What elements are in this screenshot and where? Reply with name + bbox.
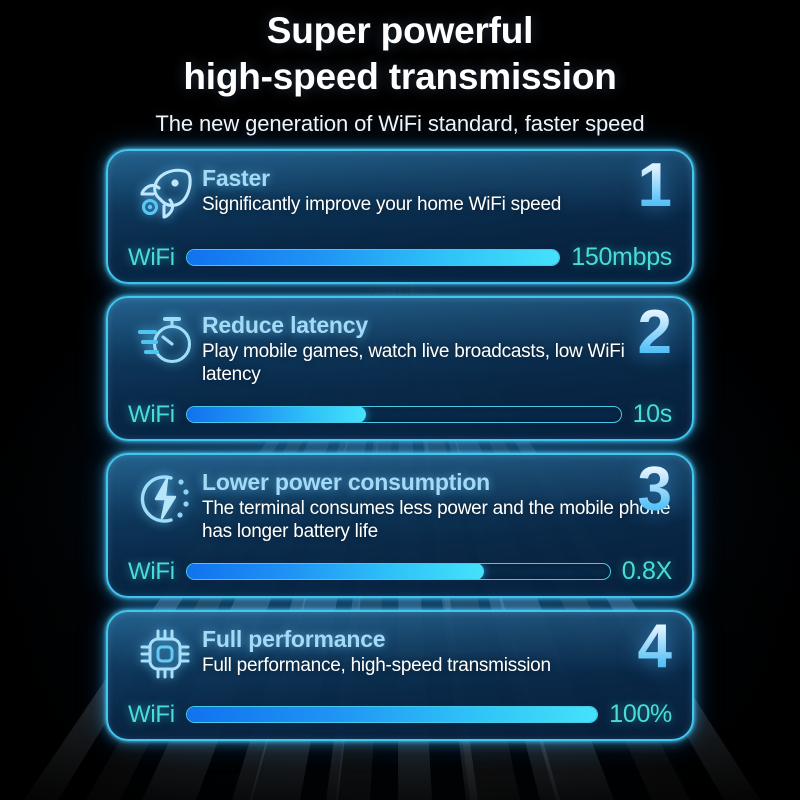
meter-fill: [186, 706, 598, 723]
card-top-row: Lower power consumption The terminal con…: [128, 468, 672, 543]
promo-graphic: Super powerful high-speed transmission T…: [0, 0, 800, 800]
cpu-chip-icon: [128, 625, 202, 681]
header: Super powerful high-speed transmission T…: [0, 0, 800, 139]
headline-line-1: Super powerful: [0, 8, 800, 54]
card-description: Full performance, high-speed transmissio…: [202, 654, 672, 677]
card-number-badge: 1: [630, 155, 672, 217]
subheadline: The new generation of WiFi standard, fas…: [0, 109, 800, 139]
card-title: Faster: [202, 165, 672, 192]
card-top-row: Faster Significantly improve your home W…: [128, 164, 672, 228]
meter-track: [186, 249, 560, 266]
power-bolt-icon: [128, 468, 202, 528]
card-top-row: Reduce latency Play mobile games, watch …: [128, 311, 672, 386]
feature-card: Lower power consumption The terminal con…: [106, 453, 694, 598]
meter-track: [186, 563, 611, 580]
card-title: Reduce latency: [202, 312, 672, 339]
meter-value: 10s: [633, 401, 672, 428]
meter-label: WiFi: [128, 559, 186, 585]
meter-track: [186, 706, 598, 723]
feature-card: Reduce latency Play mobile games, watch …: [106, 296, 694, 441]
meter-track: [186, 406, 622, 423]
card-number-badge: 4: [630, 616, 672, 678]
meter-value: 150mbps: [571, 244, 672, 271]
card-text-column: Full performance Full performance, high-…: [202, 625, 672, 677]
meter-value: 0.8X: [622, 558, 672, 585]
meter-label: WiFi: [128, 402, 186, 428]
progress-meter: WiFi 0.8X: [128, 558, 672, 585]
card-title: Lower power consumption: [202, 469, 672, 496]
card-description: Significantly improve your home WiFi spe…: [202, 193, 672, 216]
rocket-icon: [128, 164, 202, 222]
card-text-column: Lower power consumption The terminal con…: [202, 468, 672, 543]
progress-meter: WiFi 10s: [128, 401, 672, 428]
feature-card: Faster Significantly improve your home W…: [106, 149, 694, 284]
meter-label: WiFi: [128, 245, 186, 271]
feature-card: Full performance Full performance, high-…: [106, 610, 694, 741]
meter-fill: [186, 406, 366, 423]
meter-fill: [186, 563, 484, 580]
meter-label: WiFi: [128, 702, 186, 728]
card-text-column: Reduce latency Play mobile games, watch …: [202, 311, 672, 386]
headline-line-2: high-speed transmission: [0, 54, 800, 100]
meter-fill: [186, 249, 560, 266]
card-title: Full performance: [202, 626, 672, 653]
meter-value: 100%: [609, 701, 672, 728]
progress-meter: WiFi 100%: [128, 701, 672, 728]
card-description: Play mobile games, watch live broadcasts…: [202, 340, 672, 386]
card-top-row: Full performance Full performance, high-…: [128, 625, 672, 689]
card-description: The terminal consumes less power and the…: [202, 497, 672, 543]
card-number-badge: 3: [630, 459, 672, 521]
card-number-badge: 2: [630, 302, 672, 364]
feature-card-list: Faster Significantly improve your home W…: [0, 139, 800, 741]
stopwatch-icon: [128, 311, 202, 369]
card-text-column: Faster Significantly improve your home W…: [202, 164, 672, 216]
progress-meter: WiFi 150mbps: [128, 244, 672, 271]
